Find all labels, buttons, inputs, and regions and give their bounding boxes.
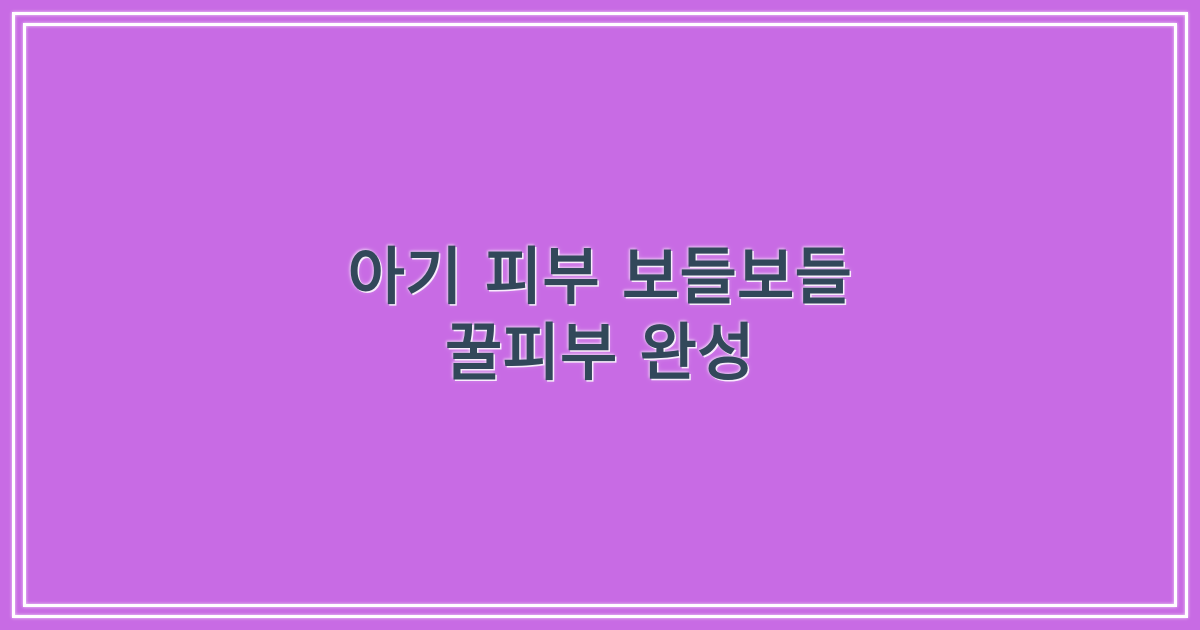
headline-line-1: 아기 피부 보들보들 xyxy=(348,239,853,315)
page-title: 아기 피부 보들보들 꿀피부 완성 xyxy=(348,239,853,391)
headline-line-2: 꿀피부 완성 xyxy=(348,315,853,391)
headline-container: 아기 피부 보들보들 꿀피부 완성 xyxy=(0,0,1200,630)
promo-card: 아기 피부 보들보들 꿀피부 완성 xyxy=(0,0,1200,630)
